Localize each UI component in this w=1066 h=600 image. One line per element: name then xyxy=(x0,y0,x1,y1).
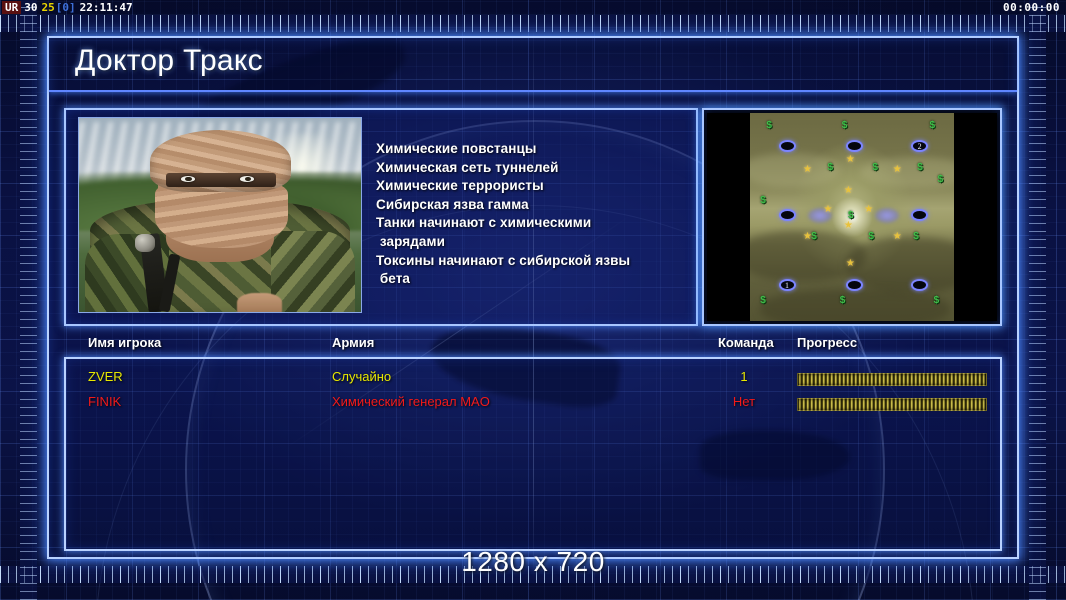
player-name: FINIK xyxy=(88,394,121,409)
map-preview-letterbox: 21$$$$$$$$$$$$$$$★★★★★★★★★★ xyxy=(707,113,997,321)
portrait-gear-knob xyxy=(135,234,155,251)
map-star-icon: ★ xyxy=(844,221,853,231)
map-star-icon: ★ xyxy=(893,165,902,175)
map-star-icon: ★ xyxy=(864,205,873,215)
column-header-progress: Прогресс xyxy=(797,335,857,350)
map-terrain-light-1 xyxy=(750,153,840,187)
general-description-line: Сибирская язва гамма xyxy=(376,196,692,215)
general-description-line: Танки начинают с химическими xyxy=(376,214,692,233)
player-progress xyxy=(797,398,987,411)
status-value-2: 25 xyxy=(42,1,55,14)
map-start-position xyxy=(911,209,928,221)
map-start-position: 1 xyxy=(779,279,796,291)
map-terrain-dark-3 xyxy=(760,289,950,321)
map-star-icon: ★ xyxy=(844,186,853,196)
map-supply-icon: $ xyxy=(760,196,769,206)
portrait-eye-left xyxy=(181,176,195,182)
page-title: Доктор Тракс xyxy=(75,44,263,78)
map-supply-icon: $ xyxy=(840,296,849,306)
player-army[interactable]: Химический генерал MAO xyxy=(332,394,490,409)
general-description-line: Химическая сеть туннелей xyxy=(376,159,692,178)
map-star-icon: ★ xyxy=(803,232,812,242)
general-portrait xyxy=(78,117,362,313)
player-progress xyxy=(797,373,987,386)
portrait-face-veil xyxy=(155,182,288,248)
map-supply-icon: $ xyxy=(913,232,922,242)
portrait-eye-right xyxy=(240,176,254,182)
column-header-name: Имя игрока xyxy=(88,335,161,350)
map-supply-icon: $ xyxy=(842,121,851,131)
map-supply-icon: $ xyxy=(766,121,775,131)
map-start-position xyxy=(846,140,863,152)
map-star-icon: ★ xyxy=(803,165,812,175)
resolution-overlay: 1280 x 720 xyxy=(0,546,1066,578)
player-row[interactable]: ZVERСлучайно1 xyxy=(66,369,1000,394)
map-water-right xyxy=(875,208,899,223)
player-team[interactable]: 1 xyxy=(718,369,770,384)
general-description-line: Токсины начинают с сибирской язвы xyxy=(376,252,692,271)
map-supply-icon: $ xyxy=(917,163,926,173)
map-start-position xyxy=(779,209,796,221)
general-description-line: Химические повстанцы xyxy=(376,140,692,159)
progress-bar-fill xyxy=(797,398,987,411)
player-army[interactable]: Случайно xyxy=(332,369,391,384)
general-description: Химические повстанцыХимическая сеть тунн… xyxy=(376,140,692,289)
status-value-3: [0] xyxy=(56,1,76,14)
map-supply-icon: $ xyxy=(868,232,877,242)
game-lobby-screen: UR3025[0]22:11:47 00:00:00 Доктор Тракс xyxy=(0,0,1066,600)
general-info-row: Химические повстанцыХимическая сеть тунн… xyxy=(64,108,1002,326)
map-preview-image: 21$$$$$$$$$$$$$$$★★★★★★★★★★ xyxy=(750,113,954,321)
map-star-icon: ★ xyxy=(893,232,902,242)
ruler-top xyxy=(0,15,1066,32)
player-row[interactable]: FINIKХимический генерал MAOНет xyxy=(66,394,1000,419)
general-description-line: Химические террористы xyxy=(376,177,692,196)
map-supply-icon: $ xyxy=(930,121,939,131)
column-header-team: Команда xyxy=(718,335,774,350)
status-timer: 00:00:00 xyxy=(1003,0,1060,15)
column-header-army: Армия xyxy=(332,335,374,350)
map-supply-icon: $ xyxy=(760,296,769,306)
title-bar: Доктор Тракс xyxy=(49,38,1017,92)
player-name: ZVER xyxy=(88,369,123,384)
map-supply-icon: $ xyxy=(934,296,943,306)
general-description-line: зарядами xyxy=(376,233,692,252)
map-supply-icon: $ xyxy=(938,175,947,185)
player-team[interactable]: Нет xyxy=(718,394,770,409)
ruler-right xyxy=(1029,0,1046,600)
player-list-panel: ZVERСлучайно1FINIKХимический генерал MAO… xyxy=(64,357,1002,551)
ruler-left xyxy=(20,0,37,600)
map-start-position xyxy=(779,140,796,152)
status-bar-left: UR3025[0]22:11:47 xyxy=(2,0,133,15)
map-supply-icon: $ xyxy=(872,163,881,173)
map-start-position: 2 xyxy=(911,140,928,152)
general-info-panel: Химические повстанцыХимическая сеть тунн… xyxy=(64,108,698,326)
portrait-shoulder-right xyxy=(271,231,356,312)
status-tag: UR xyxy=(2,1,21,14)
status-bar: UR3025[0]22:11:47 00:00:00 xyxy=(0,0,1066,15)
map-supply-icon: $ xyxy=(828,163,837,173)
map-star-icon: ★ xyxy=(823,205,832,215)
map-star-icon: ★ xyxy=(846,155,855,165)
status-value-1: 30 xyxy=(24,1,37,14)
general-description-line: бета xyxy=(376,270,692,289)
map-supply-icon: $ xyxy=(811,232,820,242)
map-preview-panel[interactable]: 21$$$$$$$$$$$$$$$★★★★★★★★★★ xyxy=(702,108,1002,326)
portrait-hand xyxy=(237,293,282,313)
map-star-icon: ★ xyxy=(846,259,855,269)
progress-bar-fill xyxy=(797,373,987,386)
status-clock: 22:11:47 xyxy=(80,1,133,14)
player-list-header: Имя игрока Армия Команда Прогресс xyxy=(64,335,1002,357)
